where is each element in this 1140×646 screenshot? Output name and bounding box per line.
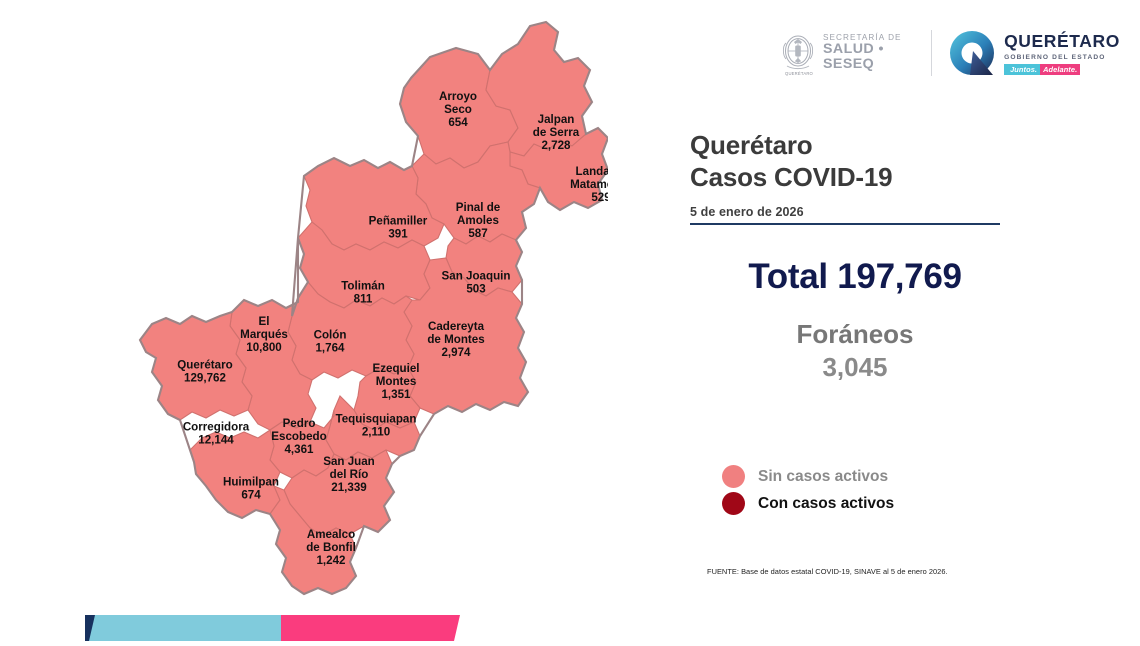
legend-label-con-casos: Con casos activos [758, 495, 894, 513]
legend-label-sin-casos: Sin casos activos [758, 468, 888, 486]
decorative-bottom-bar [85, 611, 460, 641]
map-label-quer-taro: Querétaro129,762 [177, 359, 232, 385]
total-cases: Total 197,769 [690, 257, 1020, 297]
state-tagline: Juntos. Adelante. [1004, 64, 1120, 75]
seal-caption: QUERÉTARO [777, 71, 821, 77]
header-logos: QUERÉTARO SECRETARÍA DE SALUD • SESEQ [780, 20, 1120, 86]
map-legend: Sin casos activos Con casos activos [722, 463, 894, 517]
source-note: FUENTE: Base de datos estatal COVID-19, … [707, 567, 948, 576]
seseq-wordmark: SECRETARÍA DE SALUD • SESEQ [823, 34, 915, 72]
queretaro-municipalities-map[interactable]: ArroyoSeco654Jalpande Serra2,728Landa de… [78, 18, 608, 598]
legend-item-sin-casos: Sin casos activos [722, 463, 894, 490]
state-wordmark: QUERÉTARO GOBIERNO DEL ESTADO Juntos. Ad… [1004, 31, 1120, 75]
tagline-adelante: Adelante. [1040, 64, 1080, 75]
title-divider [690, 223, 1000, 225]
queretaro-coat-of-arms-icon: QUERÉTARO [780, 30, 816, 76]
summary-panel: Querétaro Casos COVID-19 5 de enero de 2… [690, 130, 1020, 383]
legend-item-con-casos: Con casos activos [722, 490, 894, 517]
bar-segment-pink [281, 615, 460, 641]
foraneos-label: Foráneos [690, 319, 1020, 350]
page-title: Querétaro Casos COVID-19 [690, 130, 1020, 193]
page-title-line-1: Querétaro [690, 130, 1020, 162]
tagline-juntos: Juntos. [1007, 64, 1040, 75]
bar-segment-teal [89, 615, 281, 641]
report-date: 5 de enero de 2026 [690, 205, 1020, 219]
state-logo-line-1: QUERÉTARO [1004, 31, 1120, 52]
legend-dot-red-icon [722, 492, 745, 515]
logo-divider [931, 30, 932, 76]
page-title-line-2: Casos COVID-19 [690, 162, 1020, 194]
state-logo-line-2: GOBIERNO DEL ESTADO [1004, 54, 1120, 61]
state-government-logo: QUERÉTARO GOBIERNO DEL ESTADO Juntos. Ad… [948, 29, 1120, 77]
seseq-line-2: SALUD • SESEQ [823, 42, 915, 72]
seseq-logo: QUERÉTARO SECRETARÍA DE SALUD • SESEQ [780, 30, 915, 76]
queretaro-q-mark-icon [948, 29, 996, 77]
foraneos-value: 3,045 [690, 352, 1020, 383]
map-label-col-n: Colón1,764 [314, 329, 347, 355]
legend-dot-pink-icon [722, 465, 745, 488]
